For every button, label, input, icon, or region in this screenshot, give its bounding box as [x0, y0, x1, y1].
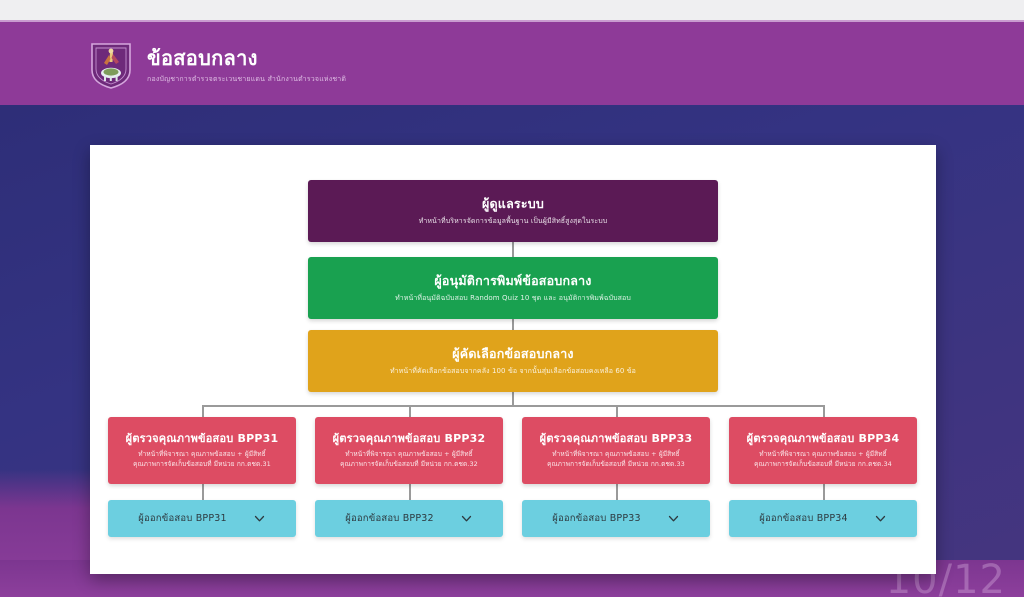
top-strip — [0, 0, 1024, 20]
node-approver-subtitle: ทำหน้าที่อนุมัติฉบับสอบ Random Quiz 10 ช… — [395, 293, 631, 303]
connector-bus-bpp34 — [823, 405, 825, 417]
chevron-down-icon[interactable] — [667, 512, 680, 525]
connector-approver-selector — [512, 319, 514, 330]
connector-bpp32-author — [409, 484, 411, 500]
org-chart-card: ผู้ดูแลระบบ ทำหน้าที่บริหารจัดการข้อมูลพ… — [90, 145, 936, 574]
connector-admin-approver — [512, 242, 514, 257]
node-approver[interactable]: ผู้อนุมัติการพิมพ์ข้อสอบกลาง ทำหน้าที่อน… — [308, 257, 718, 319]
node-reviewer-bpp34-title: ผู้ตรวจคุณภาพข้อสอบ BPP34 — [747, 432, 900, 446]
node-reviewer-bpp31[interactable]: ผู้ตรวจคุณภาพข้อสอบ BPP31 ทำหน้าที่พิจาร… — [108, 417, 296, 484]
connector-bpp31-author — [202, 484, 204, 500]
node-reviewer-bpp32-subtitle-line1: ทำหน้าที่พิจารณา คุณภาพข้อสอบ + ผู้มีสิท… — [340, 450, 478, 459]
chevron-down-icon[interactable] — [460, 512, 473, 525]
node-reviewer-bpp32[interactable]: ผู้ตรวจคุณภาพข้อสอบ BPP32 ทำหน้าที่พิจาร… — [315, 417, 503, 484]
brand: ข้อสอบกลาง กองบัญชาการตำรวจตระเวนชายแดน … — [88, 40, 346, 90]
node-reviewer-bpp32-title: ผู้ตรวจคุณภาพข้อสอบ BPP32 — [333, 432, 486, 446]
node-reviewer-bpp31-title: ผู้ตรวจคุณภาพข้อสอบ BPP31 — [126, 432, 279, 446]
connector-bus-bpp31 — [202, 405, 204, 417]
connector-bpp34-author — [823, 484, 825, 500]
node-admin-title: ผู้ดูแลระบบ — [482, 196, 544, 212]
chevron-down-icon[interactable] — [253, 512, 266, 525]
org-chart: ผู้ดูแลระบบ ทำหน้าที่บริหารจัดการข้อมูลพ… — [90, 145, 936, 574]
brand-text: ข้อสอบกลาง กองบัญชาการตำรวจตระเวนชายแดน … — [147, 45, 346, 85]
dropdown-author-bpp34[interactable]: ผู้ออกข้อสอบ BPP34 — [729, 500, 917, 537]
dropdown-author-bpp34-label: ผู้ออกข้อสอบ BPP34 — [759, 511, 848, 526]
dropdown-author-bpp32[interactable]: ผู้ออกข้อสอบ BPP32 — [315, 500, 503, 537]
node-reviewer-bpp33-subtitle-line1: ทำหน้าที่พิจารณา คุณภาพข้อสอบ + ผู้มีสิท… — [547, 450, 685, 459]
node-reviewer-bpp34[interactable]: ผู้ตรวจคุณภาพข้อสอบ BPP34 ทำหน้าที่พิจาร… — [729, 417, 917, 484]
node-reviewer-bpp34-subtitle: ทำหน้าที่พิจารณา คุณภาพข้อสอบ + ผู้มีสิท… — [754, 450, 892, 469]
dropdown-author-bpp33-label: ผู้ออกข้อสอบ BPP33 — [552, 511, 641, 526]
node-reviewer-bpp32-subtitle: ทำหน้าที่พิจารณา คุณภาพข้อสอบ + ผู้มีสิท… — [340, 450, 478, 469]
app-title: ข้อสอบกลาง — [147, 47, 346, 70]
node-reviewer-bpp33-subtitle: ทำหน้าที่พิจารณา คุณภาพข้อสอบ + ผู้มีสิท… — [547, 450, 685, 469]
node-reviewer-bpp33[interactable]: ผู้ตรวจคุณภาพข้อสอบ BPP33 ทำหน้าที่พิจาร… — [522, 417, 710, 484]
node-selector-subtitle: ทำหน้าที่คัดเลือกข้อสอบจากคลัง 100 ข้อ จ… — [390, 366, 636, 376]
node-reviewer-bpp31-subtitle-line1: ทำหน้าที่พิจารณา คุณภาพข้อสอบ + ผู้มีสิท… — [133, 450, 271, 459]
node-reviewer-bpp31-subtitle: ทำหน้าที่พิจารณา คุณภาพข้อสอบ + ผู้มีสิท… — [133, 450, 271, 469]
dropdown-author-bpp32-label: ผู้ออกข้อสอบ BPP32 — [345, 511, 434, 526]
connector-selector-bus — [512, 392, 514, 406]
node-admin[interactable]: ผู้ดูแลระบบ ทำหน้าที่บริหารจัดการข้อมูลพ… — [308, 180, 718, 242]
dropdown-author-bpp31[interactable]: ผู้ออกข้อสอบ BPP31 — [108, 500, 296, 537]
bottom-band-left — [0, 105, 92, 597]
connector-bus-bpp32 — [409, 405, 411, 417]
dropdown-author-bpp33[interactable]: ผู้ออกข้อสอบ BPP33 — [522, 500, 710, 537]
dropdown-author-bpp31-label: ผู้ออกข้อสอบ BPP31 — [138, 511, 227, 526]
app-header: ข้อสอบกลาง กองบัญชาการตำรวจตระเวนชายแดน … — [0, 20, 1024, 105]
connector-bpp33-author — [616, 484, 618, 500]
node-reviewer-bpp33-title: ผู้ตรวจคุณภาพข้อสอบ BPP33 — [540, 432, 693, 446]
node-reviewer-bpp34-subtitle-line1: ทำหน้าที่พิจารณา คุณภาพข้อสอบ + ผู้มีสิท… — [754, 450, 892, 459]
node-reviewer-bpp34-subtitle-line2: คุณภาพการจัดเก็บข้อสอบที่ มีหน่วย กก.ตชด… — [754, 460, 892, 469]
chevron-down-icon[interactable] — [874, 512, 887, 525]
app-subtitle: กองบัญชาการตำรวจตระเวนชายแดน สำนักงานตำร… — [147, 74, 346, 85]
connector-bus — [202, 405, 824, 407]
node-approver-title: ผู้อนุมัติการพิมพ์ข้อสอบกลาง — [434, 273, 591, 289]
connector-bus-bpp33 — [616, 405, 618, 417]
node-reviewer-bpp32-subtitle-line2: คุณภาพการจัดเก็บข้อสอบที่ มีหน่วย กก.ตชด… — [340, 460, 478, 469]
node-selector[interactable]: ผู้คัดเลือกข้อสอบกลาง ทำหน้าที่คัดเลือกข… — [308, 330, 718, 392]
node-admin-subtitle: ทำหน้าที่บริหารจัดการข้อมูลพื้นฐาน เป็นผ… — [419, 216, 608, 226]
shield-crest-icon — [88, 40, 134, 90]
node-reviewer-bpp33-subtitle-line2: คุณภาพการจัดเก็บข้อสอบที่ มีหน่วย กก.ตชด… — [547, 460, 685, 469]
node-selector-title: ผู้คัดเลือกข้อสอบกลาง — [452, 346, 574, 362]
app-screen: ข้อสอบกลาง กองบัญชาการตำรวจตระเวนชายแดน … — [0, 0, 1024, 597]
node-reviewer-bpp31-subtitle-line2: คุณภาพการจัดเก็บข้อสอบที่ มีหน่วย กก.ตชด… — [133, 460, 271, 469]
